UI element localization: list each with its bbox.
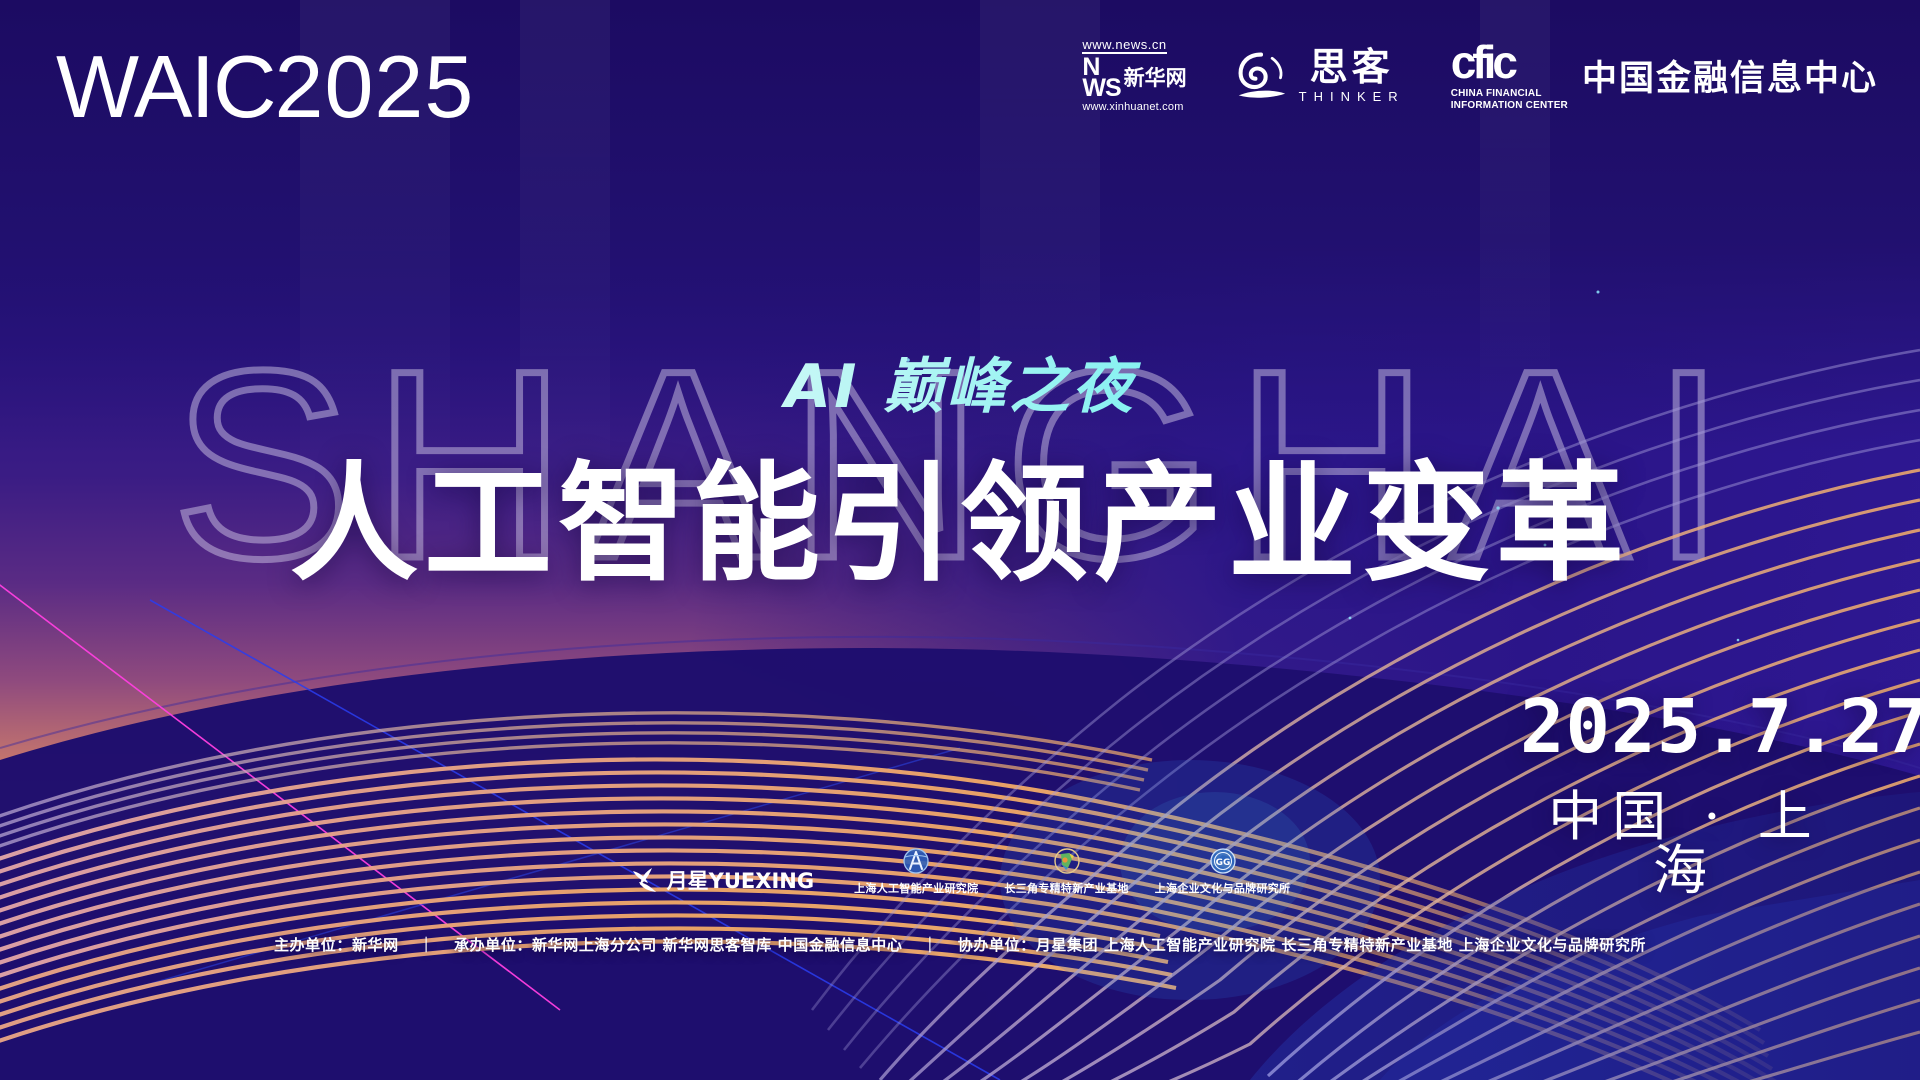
partner-logo-thinker: 思客 THINKER — [1233, 48, 1405, 103]
xinhua-ws-glyph: WS — [1082, 78, 1120, 100]
xinhua-name-cn: 新华网 — [1124, 68, 1187, 89]
hero-headline: 人工智能引领产业变革 — [0, 420, 1920, 605]
credits-host: 主办单位：新华网 — [270, 936, 403, 954]
sponsor-enterprise-culture-institute: GG 上海企业文化与品牌研究所 — [1155, 846, 1291, 896]
hero-subtitle: AI 巅峰之夜 — [0, 338, 1920, 425]
waic-logo-text: WAIC — [56, 37, 275, 136]
thinker-swirl-icon — [1233, 49, 1289, 101]
sponsor-logo-strip: 月星YUEXING 上海人工智能产业研究院 — [0, 846, 1920, 896]
enterprise-culture-seal-icon: GG — [1208, 846, 1238, 878]
sponsor-label: 长三角专精特新产业基地 — [1004, 880, 1128, 896]
xinhua-url-top: www.news.cn — [1082, 38, 1166, 54]
thinker-name-en: THINKER — [1299, 90, 1405, 103]
svg-text:GG: GG — [1215, 858, 1230, 868]
yangtze-delta-base-icon — [1052, 846, 1082, 878]
credits-line: 主办单位：新华网 ｜ 承办单位：新华网上海分公司 新华网思客智库 中国金融信息中… — [0, 934, 1920, 955]
waic-event-logo: WAIC2025 — [56, 36, 474, 138]
poster-header: WAIC2025 www.news.cn N WS 新华网 www.xinhua… — [0, 0, 1920, 150]
yuexing-star-icon — [630, 864, 660, 896]
sponsor-label: 上海企业文化与品牌研究所 — [1155, 880, 1291, 896]
sponsor-yuexing: 月星YUEXING — [630, 864, 814, 896]
xinhua-url-bottom: www.xinhuanet.com — [1082, 102, 1183, 113]
sponsor-label: 上海人工智能产业研究院 — [854, 880, 978, 896]
cfic-name-en-line1: CHINA FINANCIAL — [1451, 88, 1542, 100]
shanghai-ai-institute-icon — [901, 846, 931, 878]
sponsor-yangtze-delta-base: 长三角专精特新产业基地 — [1004, 846, 1128, 896]
credits-separator-2: ｜ — [912, 936, 948, 954]
sponsor-shanghai-ai-institute: 上海人工智能产业研究院 — [854, 846, 978, 896]
poster-canvas: SHANGHAI — [0, 0, 1920, 1080]
credits-coorganizer: 协办单位：月星集团 上海人工智能产业研究院 长三角专精特新产业基地 上海企业文化… — [954, 936, 1650, 954]
event-date: 2025.7.27 — [1520, 690, 1850, 764]
partner-logo-cfic: cfic CHINA FINANCIAL INFORMATION CENTER … — [1451, 39, 1878, 111]
sponsor-label: 月星YUEXING — [667, 865, 814, 895]
waic-logo-year: 2025 — [275, 37, 475, 136]
partner-logo-row: www.news.cn N WS 新华网 www.xinhuanet.com — [1082, 36, 1878, 114]
partner-logo-xinhua: www.news.cn N WS 新华网 www.xinhuanet.com — [1082, 38, 1186, 113]
credits-organizer: 承办单位：新华网上海分公司 新华网思客智库 中国金融信息中心 — [450, 936, 906, 954]
cfic-name-en-line2: INFORMATION CENTER — [1451, 100, 1568, 112]
thinker-name-cn: 思客 — [1310, 48, 1394, 86]
cfic-name-cn: 中国金融信息中心 — [1582, 50, 1878, 101]
credits-separator-1: ｜ — [409, 936, 445, 954]
cfic-abbr-icon: cfic — [1451, 39, 1514, 85]
